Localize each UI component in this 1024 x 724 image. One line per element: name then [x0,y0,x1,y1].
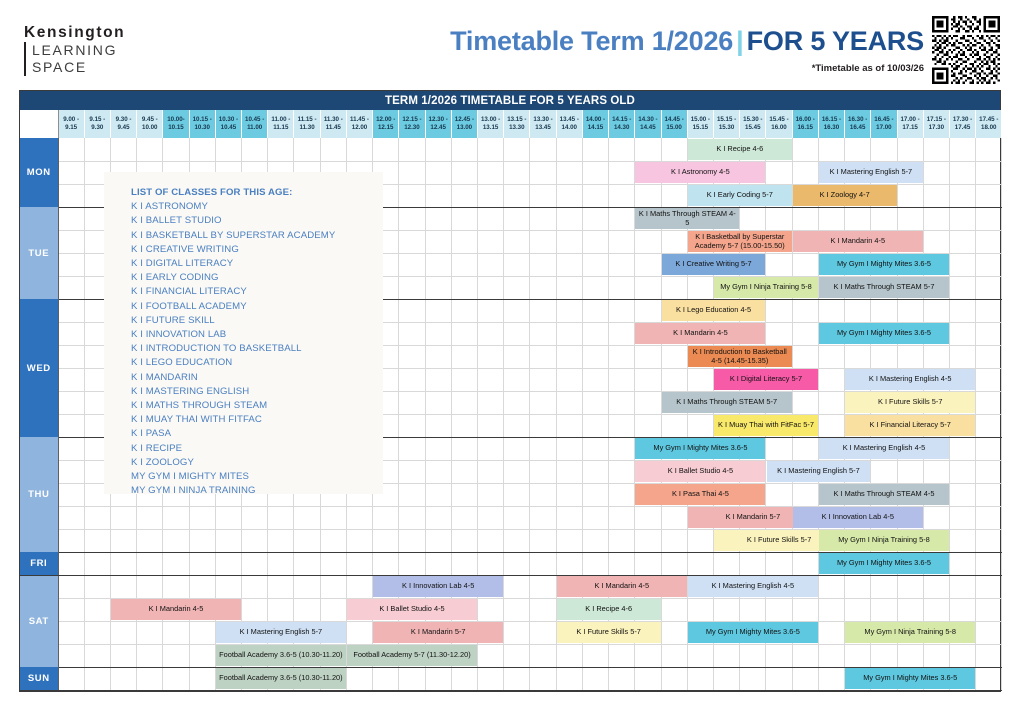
timetable-slot[interactable] [949,138,975,161]
timetable-slot[interactable] [84,667,110,690]
timetable-slot[interactable] [582,552,608,575]
timetable-slot[interactable] [451,345,477,368]
timetable-slot[interactable] [399,667,425,690]
timetable-slot[interactable] [740,644,766,667]
timetable-slot[interactable] [110,667,136,690]
timetable-slot[interactable] [425,552,451,575]
timetable-event[interactable]: My Gym I Ninja Training 5-8 [845,622,975,643]
timetable-slot[interactable] [320,552,346,575]
timetable-slot[interactable] [84,552,110,575]
timetable-slot[interactable] [818,598,844,621]
timetable-slot[interactable] [504,483,530,506]
timetable-slot[interactable] [635,414,661,437]
timetable-slot[interactable] [871,460,897,483]
timetable-slot[interactable] [635,529,661,552]
timetable-slot[interactable] [845,575,871,598]
timetable-slot[interactable] [399,391,425,414]
timetable-slot[interactable] [661,230,687,253]
timetable-slot[interactable] [399,138,425,161]
timetable-slot[interactable] [582,207,608,230]
timetable-slot[interactable] [425,161,451,184]
timetable-slot[interactable] [923,299,949,322]
timetable-slot[interactable] [268,506,294,529]
timetable-slot[interactable] [451,184,477,207]
timetable-slot[interactable] [530,230,556,253]
timetable-slot[interactable] [58,161,84,184]
timetable-event[interactable]: My Gym I Mighty Mites 3.6-5 [635,438,765,459]
timetable-slot[interactable] [504,667,530,690]
timetable-slot[interactable] [818,207,844,230]
timetable-slot[interactable] [425,667,451,690]
timetable-slot[interactable] [582,667,608,690]
timetable-event[interactable]: My Gym I Mighty Mites 3.6-5 [819,553,949,574]
timetable-slot[interactable] [897,575,923,598]
timetable-event[interactable]: K I Future Skills 5-7 [845,392,975,413]
timetable-event[interactable]: K I Astronomy 4-5 [635,162,765,183]
timetable-slot[interactable] [818,138,844,161]
timetable-slot[interactable] [556,230,582,253]
timetable-slot[interactable] [373,552,399,575]
timetable-event[interactable]: K I Mandarin 5-7 [373,622,503,643]
timetable-slot[interactable] [84,598,110,621]
timetable-slot[interactable] [242,598,268,621]
timetable-slot[interactable] [478,138,504,161]
timetable-event[interactable]: K I Mandarin 4-5 [557,576,687,597]
timetable-slot[interactable] [740,207,766,230]
timetable-slot[interactable] [609,506,635,529]
timetable-slot[interactable] [504,207,530,230]
timetable-slot[interactable] [504,414,530,437]
timetable-slot[interactable] [84,506,110,529]
timetable-slot[interactable] [609,529,635,552]
timetable-slot[interactable] [976,575,1002,598]
timetable-slot[interactable] [320,575,346,598]
timetable-slot[interactable] [582,253,608,276]
timetable-slot[interactable] [399,529,425,552]
timetable-slot[interactable] [137,621,163,644]
timetable-slot[interactable] [897,299,923,322]
timetable-slot[interactable] [556,207,582,230]
timetable-slot[interactable] [818,667,844,690]
timetable-slot[interactable] [923,460,949,483]
timetable-slot[interactable] [110,621,136,644]
timetable-slot[interactable] [215,506,241,529]
timetable-slot[interactable] [530,345,556,368]
timetable-slot[interactable] [713,552,739,575]
timetable-slot[interactable] [504,552,530,575]
timetable-event[interactable]: My Gym I Ninja Training 5-8 [819,530,949,551]
timetable-slot[interactable] [110,138,136,161]
timetable-event[interactable]: K I Maths Through STEAM 5-7 [662,392,792,413]
timetable-slot[interactable] [346,529,372,552]
timetable-slot[interactable] [399,368,425,391]
timetable-slot[interactable] [661,138,687,161]
timetable-slot[interactable] [163,529,189,552]
timetable-slot[interactable] [818,414,844,437]
timetable-slot[interactable] [556,437,582,460]
timetable-slot[interactable] [976,276,1002,299]
timetable-slot[interactable] [845,138,871,161]
timetable-slot[interactable] [478,460,504,483]
timetable-slot[interactable] [635,391,661,414]
timetable-slot[interactable] [609,253,635,276]
timetable-slot[interactable] [425,483,451,506]
timetable-slot[interactable] [976,506,1002,529]
timetable-slot[interactable] [792,161,818,184]
timetable-slot[interactable] [661,598,687,621]
timetable-slot[interactable] [451,207,477,230]
timetable-slot[interactable] [530,414,556,437]
timetable-slot[interactable] [425,414,451,437]
timetable-slot[interactable] [582,529,608,552]
timetable-slot[interactable] [425,276,451,299]
timetable-slot[interactable] [976,529,1002,552]
timetable-slot[interactable] [451,483,477,506]
timetable-slot[interactable] [504,644,530,667]
timetable-slot[interactable] [949,230,975,253]
timetable-event[interactable]: My Gym I Mighty Mites 3.6-5 [845,668,975,689]
timetable-slot[interactable] [582,483,608,506]
timetable-slot[interactable] [556,483,582,506]
timetable-slot[interactable] [635,345,661,368]
timetable-slot[interactable] [110,575,136,598]
timetable-slot[interactable] [740,598,766,621]
timetable-slot[interactable] [713,667,739,690]
timetable-slot[interactable] [84,138,110,161]
timetable-slot[interactable] [530,253,556,276]
timetable-slot[interactable] [740,552,766,575]
timetable-event[interactable]: K I Mandarin 4-5 [793,231,923,252]
timetable-slot[interactable] [84,621,110,644]
timetable-slot[interactable] [609,414,635,437]
timetable-slot[interactable] [976,644,1002,667]
timetable-slot[interactable] [425,368,451,391]
timetable-slot[interactable] [242,552,268,575]
timetable-slot[interactable] [425,230,451,253]
timetable-slot[interactable] [451,276,477,299]
timetable-slot[interactable] [687,667,713,690]
timetable-event[interactable]: K I Future Skills 5-7 [557,622,661,643]
timetable-slot[interactable] [58,460,84,483]
timetable-slot[interactable] [976,460,1002,483]
timetable-slot[interactable] [949,276,975,299]
timetable-slot[interactable] [609,299,635,322]
timetable-slot[interactable] [478,506,504,529]
timetable-slot[interactable] [215,529,241,552]
timetable-slot[interactable] [189,552,215,575]
timetable-slot[interactable] [373,667,399,690]
timetable-slot[interactable] [609,138,635,161]
timetable-slot[interactable] [661,667,687,690]
timetable-slot[interactable] [478,207,504,230]
timetable-slot[interactable] [976,598,1002,621]
timetable-slot[interactable] [687,414,713,437]
timetable-slot[interactable] [58,529,84,552]
timetable-slot[interactable] [792,253,818,276]
timetable-slot[interactable] [189,575,215,598]
timetable-slot[interactable] [530,368,556,391]
timetable-slot[interactable] [949,299,975,322]
timetable-slot[interactable] [268,529,294,552]
timetable-event[interactable]: K I Recipe 4-6 [688,139,792,160]
timetable-slot[interactable] [976,368,1002,391]
timetable-slot[interactable] [478,414,504,437]
timetable-slot[interactable] [478,391,504,414]
timetable-slot[interactable] [451,414,477,437]
timetable-slot[interactable] [399,161,425,184]
timetable-slot[interactable] [792,345,818,368]
timetable-slot[interactable] [58,253,84,276]
timetable-slot[interactable] [582,437,608,460]
timetable-slot[interactable] [609,460,635,483]
timetable-slot[interactable] [478,184,504,207]
timetable-slot[interactable] [949,598,975,621]
timetable-slot[interactable] [58,667,84,690]
timetable-event[interactable]: K I Mastering English 5-7 [819,162,923,183]
timetable-slot[interactable] [504,368,530,391]
timetable-slot[interactable] [530,138,556,161]
timetable-slot[interactable] [556,299,582,322]
timetable-slot[interactable] [635,253,661,276]
timetable-slot[interactable] [976,483,1002,506]
timetable-slot[interactable] [949,460,975,483]
timetable-slot[interactable] [504,529,530,552]
timetable-slot[interactable] [635,644,661,667]
timetable-slot[interactable] [556,253,582,276]
timetable-slot[interactable] [635,506,661,529]
timetable-slot[interactable] [582,276,608,299]
timetable-slot[interactable] [845,207,871,230]
timetable-slot[interactable] [609,230,635,253]
timetable-slot[interactable] [792,299,818,322]
timetable-slot[interactable] [478,299,504,322]
timetable-slot[interactable] [346,667,372,690]
timetable-slot[interactable] [792,207,818,230]
timetable-slot[interactable] [635,368,661,391]
timetable-slot[interactable] [556,644,582,667]
timetable-event[interactable]: K I Financial Literacy 5-7 [845,415,975,436]
timetable-slot[interactable] [582,184,608,207]
timetable-slot[interactable] [425,437,451,460]
timetable-slot[interactable] [871,207,897,230]
timetable-slot[interactable] [792,437,818,460]
timetable-slot[interactable] [766,483,792,506]
timetable-slot[interactable] [923,207,949,230]
timetable-slot[interactable] [792,483,818,506]
timetable-slot[interactable] [268,598,294,621]
timetable-slot[interactable] [766,299,792,322]
timetable-slot[interactable] [478,276,504,299]
timetable-slot[interactable] [923,230,949,253]
timetable-slot[interactable] [897,138,923,161]
timetable-slot[interactable] [818,345,844,368]
timetable-slot[interactable] [687,598,713,621]
timetable-slot[interactable] [530,644,556,667]
timetable-slot[interactable] [451,230,477,253]
timetable-slot[interactable] [818,644,844,667]
timetable-slot[interactable] [976,299,1002,322]
timetable-slot[interactable] [661,529,687,552]
timetable-slot[interactable] [949,207,975,230]
timetable-slot[interactable] [897,460,923,483]
timetable-slot[interactable] [556,368,582,391]
timetable-slot[interactable] [425,460,451,483]
timetable-slot[interactable] [425,322,451,345]
timetable-event[interactable]: K I Mastering English 5-7 [767,461,871,482]
timetable-slot[interactable] [582,644,608,667]
timetable-slot[interactable] [504,391,530,414]
timetable-slot[interactable] [897,207,923,230]
timetable-slot[interactable] [530,437,556,460]
timetable-slot[interactable] [399,184,425,207]
timetable-slot[interactable] [792,138,818,161]
timetable-slot[interactable] [556,552,582,575]
timetable-slot[interactable] [923,161,949,184]
timetable-slot[interactable] [451,299,477,322]
timetable-slot[interactable] [163,644,189,667]
timetable-slot[interactable] [556,184,582,207]
timetable-event[interactable]: K I Maths Through STEAM 4-5 [819,484,949,505]
timetable-slot[interactable] [478,552,504,575]
timetable-slot[interactable] [530,207,556,230]
timetable-slot[interactable] [58,322,84,345]
timetable-slot[interactable] [189,621,215,644]
timetable-slot[interactable] [373,506,399,529]
timetable-slot[interactable] [976,345,1002,368]
timetable-slot[interactable] [425,207,451,230]
timetable-slot[interactable] [713,598,739,621]
timetable-slot[interactable] [84,575,110,598]
timetable-slot[interactable] [687,529,713,552]
timetable-slot[interactable] [137,529,163,552]
timetable-slot[interactable] [268,552,294,575]
timetable-slot[interactable] [609,552,635,575]
timetable-slot[interactable] [504,230,530,253]
timetable-slot[interactable] [399,276,425,299]
timetable-slot[interactable] [871,575,897,598]
timetable-slot[interactable] [949,506,975,529]
timetable-slot[interactable] [845,644,871,667]
timetable-slot[interactable] [976,207,1002,230]
timetable-slot[interactable] [661,621,687,644]
timetable-slot[interactable] [582,161,608,184]
timetable-slot[interactable] [661,644,687,667]
timetable-slot[interactable] [661,345,687,368]
timetable-slot[interactable] [451,391,477,414]
timetable-slot[interactable] [504,345,530,368]
timetable-slot[interactable] [949,644,975,667]
timetable-slot[interactable] [923,644,949,667]
timetable-slot[interactable] [425,138,451,161]
timetable-slot[interactable] [425,299,451,322]
timetable-slot[interactable] [163,575,189,598]
timetable-slot[interactable] [530,506,556,529]
timetable-slot[interactable] [373,529,399,552]
timetable-slot[interactable] [897,644,923,667]
timetable-slot[interactable] [478,253,504,276]
timetable-slot[interactable] [163,621,189,644]
timetable-slot[interactable] [58,138,84,161]
timetable-slot[interactable] [530,667,556,690]
timetable-slot[interactable] [425,529,451,552]
timetable-slot[interactable] [661,276,687,299]
timetable-slot[interactable] [58,276,84,299]
timetable-slot[interactable] [504,322,530,345]
timetable-slot[interactable] [110,529,136,552]
timetable-slot[interactable] [740,667,766,690]
timetable-slot[interactable] [530,276,556,299]
timetable-slot[interactable] [504,253,530,276]
timetable-slot[interactable] [478,368,504,391]
timetable-event[interactable]: My Gym I Mighty Mites 3.6-5 [688,622,818,643]
timetable-slot[interactable] [609,345,635,368]
timetable-slot[interactable] [949,552,975,575]
timetable-slot[interactable] [766,437,792,460]
timetable-slot[interactable] [399,253,425,276]
timetable-slot[interactable] [582,345,608,368]
timetable-event[interactable]: Football Academy 5-7 (11.30-12.20) [347,645,477,666]
timetable-event[interactable]: K I Ballet Studio 4-5 [635,461,765,482]
timetable-slot[interactable] [294,552,320,575]
timetable-slot[interactable] [976,391,1002,414]
timetable-slot[interactable] [818,575,844,598]
timetable-slot[interactable] [58,552,84,575]
timetable-slot[interactable] [268,575,294,598]
timetable-slot[interactable] [923,598,949,621]
timetable-event[interactable]: K I Digital Literacy 5-7 [714,369,818,390]
timetable-slot[interactable] [766,667,792,690]
timetable-slot[interactable] [530,575,556,598]
timetable-slot[interactable] [792,322,818,345]
timetable-slot[interactable] [792,667,818,690]
timetable-slot[interactable] [949,575,975,598]
timetable-slot[interactable] [504,575,530,598]
timetable-slot[interactable] [609,483,635,506]
timetable-slot[interactable] [504,299,530,322]
timetable-event[interactable]: K I Recipe 4-6 [557,599,661,620]
timetable-slot[interactable] [530,529,556,552]
timetable-event[interactable]: K I Mastering English 4-5 [688,576,818,597]
timetable-event[interactable]: My Gym I Mighty Mites 3.6-5 [819,254,949,275]
timetable-slot[interactable] [110,644,136,667]
timetable-slot[interactable] [215,552,241,575]
timetable-slot[interactable] [163,552,189,575]
timetable-slot[interactable] [949,483,975,506]
timetable-event[interactable]: K I Zoology 4-7 [793,185,897,206]
timetable-slot[interactable] [556,506,582,529]
timetable-slot[interactable] [818,621,844,644]
timetable-slot[interactable] [609,667,635,690]
timetable-slot[interactable] [346,621,372,644]
timetable-slot[interactable] [687,276,713,299]
timetable-slot[interactable] [766,161,792,184]
timetable-slot[interactable] [661,552,687,575]
timetable-slot[interactable] [504,506,530,529]
timetable-slot[interactable] [399,207,425,230]
timetable-slot[interactable] [451,437,477,460]
timetable-slot[interactable] [110,506,136,529]
timetable-slot[interactable] [346,506,372,529]
timetable-slot[interactable] [399,230,425,253]
timetable-slot[interactable] [582,391,608,414]
timetable-slot[interactable] [399,299,425,322]
timetable-slot[interactable] [845,299,871,322]
timetable-slot[interactable] [530,598,556,621]
timetable-slot[interactable] [976,437,1002,460]
timetable-slot[interactable] [451,322,477,345]
timetable-event[interactable]: K I Lego Education 4-5 [662,300,766,321]
timetable-slot[interactable] [451,460,477,483]
